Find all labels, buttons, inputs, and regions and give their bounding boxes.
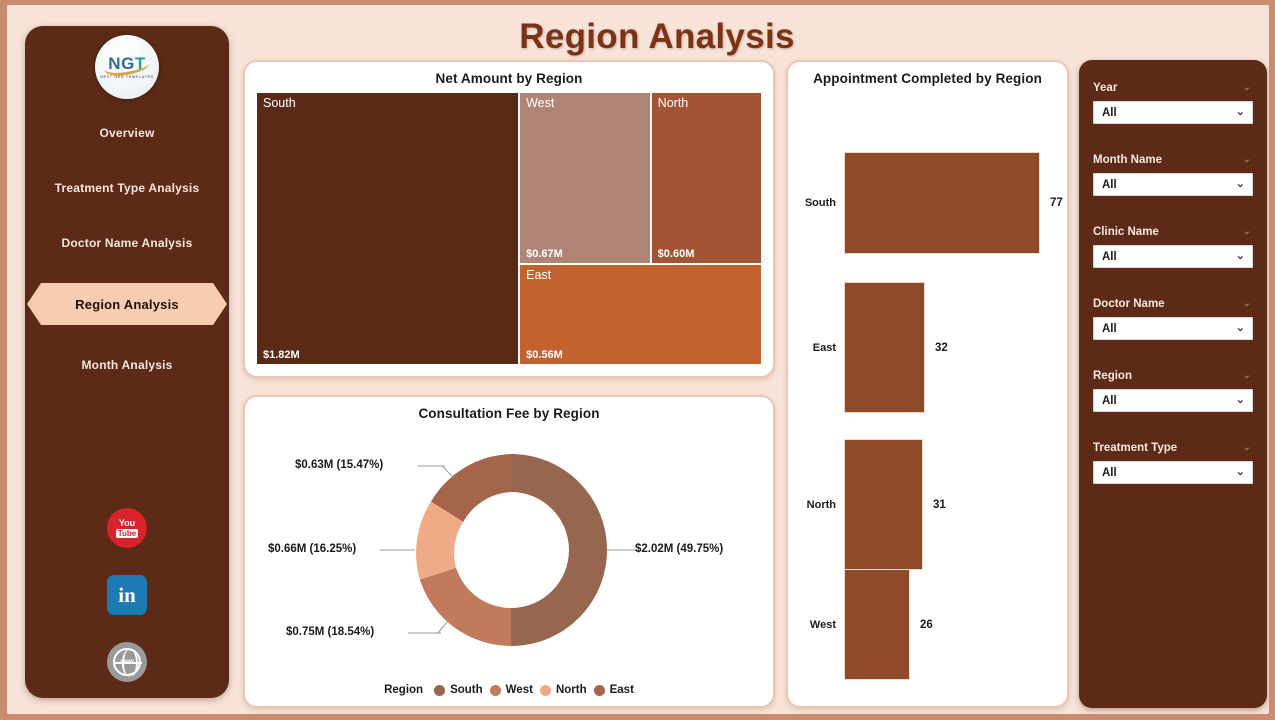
chevron-down-icon: ⌄ bbox=[1243, 155, 1251, 165]
legend-swatch-icon bbox=[540, 685, 551, 696]
consultation-fee-by-region-card: Consultation Fee by Region $2.02M (49.75… bbox=[243, 395, 775, 708]
slicer-value: All bbox=[1102, 179, 1117, 191]
slicer-label: Clinic Name bbox=[1093, 226, 1159, 238]
clinic-name-dropdown[interactable]: All ⌄ bbox=[1093, 245, 1253, 268]
donut-chart-title: Consultation Fee by Region bbox=[245, 397, 773, 421]
slicer-label: Region bbox=[1093, 370, 1132, 382]
legend-item-east[interactable]: East bbox=[594, 684, 634, 696]
slicer-treatment-type: Treatment Type ⌄ All ⌄ bbox=[1093, 442, 1253, 484]
slicer-header[interactable]: Month Name ⌄ bbox=[1093, 154, 1253, 166]
treemap-cell-label: West bbox=[526, 96, 554, 110]
slicer-label: Treatment Type bbox=[1093, 442, 1177, 454]
treemap-cell-value: $0.60M bbox=[658, 248, 695, 260]
sidebar-item-label: Overview bbox=[100, 126, 155, 140]
legend-swatch-icon bbox=[594, 685, 605, 696]
youtube-icon[interactable]: You Tube bbox=[107, 508, 147, 548]
bar-row: West 26 bbox=[788, 569, 1067, 680]
sidebar-nav: Overview Treatment Type Analysis Doctor … bbox=[25, 118, 229, 405]
slicer-value: All bbox=[1102, 467, 1117, 479]
treemap-cell-value: $1.82M bbox=[263, 349, 300, 361]
donut-chart-plot: $2.02M (49.75%) $0.75M (18.54%) $0.66M (… bbox=[245, 425, 773, 675]
website-globe-icon[interactable]: www bbox=[107, 642, 147, 682]
donut-label-east: $0.63M (15.47%) bbox=[295, 459, 383, 471]
page-title: Region Analysis bbox=[247, 14, 1067, 60]
sidebar-item-month-analysis[interactable]: Month Analysis bbox=[25, 350, 229, 380]
net-amount-by-region-card: Net Amount by Region South $1.82M West $… bbox=[243, 60, 775, 378]
logo-subtitle: NEXT GEN TEMPLATES bbox=[100, 75, 153, 79]
sidebar-item-label: Treatment Type Analysis bbox=[55, 181, 200, 195]
donut-label-north: $0.66M (16.25%) bbox=[268, 543, 356, 555]
treemap-cell-label: North bbox=[658, 96, 689, 110]
treemap-cell-south[interactable]: South $1.82M bbox=[256, 92, 519, 365]
slicer-label: Month Name bbox=[1093, 154, 1162, 166]
donut-leader-west bbox=[438, 621, 448, 633]
website-www-text: www bbox=[120, 659, 133, 665]
sidebar-item-label: Month Analysis bbox=[81, 358, 172, 372]
chevron-down-icon: ⌄ bbox=[1236, 251, 1245, 262]
linkedin-icon[interactable]: in bbox=[107, 575, 147, 615]
treemap-plot: South $1.82M West $0.67M North $0.60M Ea… bbox=[256, 92, 762, 365]
chevron-down-icon: ⌄ bbox=[1243, 227, 1251, 237]
chevron-down-icon: ⌄ bbox=[1236, 107, 1245, 118]
youtube-you-text: You bbox=[119, 519, 135, 528]
sidebar-item-treatment-type-analysis[interactable]: Treatment Type Analysis bbox=[25, 173, 229, 203]
bar-rect[interactable] bbox=[844, 282, 925, 413]
chevron-down-icon: ⌄ bbox=[1236, 395, 1245, 406]
slicer-value: All bbox=[1102, 323, 1117, 335]
bar-category-label: South bbox=[788, 197, 844, 209]
legend-swatch-icon bbox=[434, 685, 445, 696]
brand-logo: NGT NEXT GEN TEMPLATES bbox=[95, 35, 159, 99]
donut-slice-west[interactable] bbox=[420, 568, 511, 646]
chevron-down-icon: ⌄ bbox=[1236, 179, 1245, 190]
chevron-down-icon: ⌄ bbox=[1236, 323, 1245, 334]
donut-leader-east bbox=[442, 466, 454, 478]
bar-value-label: 31 bbox=[923, 499, 946, 511]
bar-row: South 77 bbox=[788, 152, 1067, 254]
slicer-year: Year ⌄ All ⌄ bbox=[1093, 82, 1253, 124]
year-dropdown[interactable]: All ⌄ bbox=[1093, 101, 1253, 124]
bar-chart-plot: South 77 East 32 North 31 West 26 bbox=[788, 94, 1067, 694]
slicer-label: Doctor Name bbox=[1093, 298, 1165, 310]
treemap-cell-east[interactable]: East $0.56M bbox=[519, 264, 762, 365]
slicer-header[interactable]: Treatment Type ⌄ bbox=[1093, 442, 1253, 454]
bar-value-label: 26 bbox=[910, 619, 933, 631]
bar-value-label: 77 bbox=[1040, 197, 1063, 209]
linkedin-glyph: in bbox=[118, 585, 136, 606]
sidebar: NGT NEXT GEN TEMPLATES Overview Treatmen… bbox=[25, 26, 229, 698]
legend-item-south[interactable]: South bbox=[434, 684, 483, 696]
sidebar-item-doctor-name-analysis[interactable]: Doctor Name Analysis bbox=[25, 228, 229, 258]
bar-chart-title: Appointment Completed by Region bbox=[788, 62, 1067, 86]
youtube-tube-text: Tube bbox=[116, 529, 139, 538]
globe-shape: www bbox=[113, 648, 141, 676]
donut-slice-south[interactable] bbox=[511, 454, 607, 646]
bar-value-label: 32 bbox=[925, 342, 948, 354]
chevron-down-icon: ⌄ bbox=[1243, 299, 1251, 309]
legend-item-west[interactable]: West bbox=[490, 684, 533, 696]
treemap-cell-west[interactable]: West $0.67M bbox=[519, 92, 651, 264]
legend-label: North bbox=[556, 684, 587, 696]
slicer-value: All bbox=[1102, 107, 1117, 119]
slicer-header[interactable]: Year ⌄ bbox=[1093, 82, 1253, 94]
treemap-cell-value: $0.56M bbox=[526, 349, 563, 361]
slicer-clinic-name: Clinic Name ⌄ All ⌄ bbox=[1093, 226, 1253, 268]
bar-category-label: North bbox=[788, 499, 844, 511]
bar-row: North 31 bbox=[788, 439, 1067, 570]
legend-label: South bbox=[450, 684, 483, 696]
slicer-header[interactable]: Clinic Name ⌄ bbox=[1093, 226, 1253, 238]
legend-label: East bbox=[610, 684, 634, 696]
legend-title: Region bbox=[384, 684, 423, 696]
sidebar-item-label: Doctor Name Analysis bbox=[62, 236, 193, 250]
month-name-dropdown[interactable]: All ⌄ bbox=[1093, 173, 1253, 196]
treemap-title: Net Amount by Region bbox=[245, 62, 773, 86]
treemap-cell-north[interactable]: North $0.60M bbox=[651, 92, 762, 264]
treemap-cell-label: East bbox=[526, 268, 551, 282]
legend-item-north[interactable]: North bbox=[540, 684, 587, 696]
filter-panel: Year ⌄ All ⌄ Month Name ⌄ All ⌄ Clinic N… bbox=[1079, 60, 1267, 708]
bar-category-label: East bbox=[788, 342, 844, 354]
bar-row: East 32 bbox=[788, 282, 1067, 413]
report-canvas: NGT NEXT GEN TEMPLATES Overview Treatmen… bbox=[7, 5, 1269, 714]
treatment-type-dropdown[interactable]: All ⌄ bbox=[1093, 461, 1253, 484]
treemap-cell-value: $0.67M bbox=[526, 248, 563, 260]
slicer-header[interactable]: Doctor Name ⌄ bbox=[1093, 298, 1253, 310]
bar-category-label: West bbox=[788, 619, 844, 631]
donut-label-south: $2.02M (49.75%) bbox=[635, 543, 723, 555]
social-links: You Tube in www bbox=[107, 508, 147, 709]
slicer-header[interactable]: Region ⌄ bbox=[1093, 370, 1253, 382]
slicer-doctor-name: Doctor Name ⌄ All ⌄ bbox=[1093, 298, 1253, 340]
donut-label-west: $0.75M (18.54%) bbox=[286, 626, 374, 638]
sidebar-item-label: Region Analysis bbox=[75, 297, 179, 312]
sidebar-item-overview[interactable]: Overview bbox=[25, 118, 229, 148]
doctor-name-dropdown[interactable]: All ⌄ bbox=[1093, 317, 1253, 340]
appointment-completed-by-region-card: Appointment Completed by Region South 77… bbox=[786, 60, 1069, 708]
chevron-down-icon: ⌄ bbox=[1243, 443, 1251, 453]
sidebar-item-region-analysis[interactable]: Region Analysis bbox=[27, 283, 227, 325]
bar-rect[interactable] bbox=[844, 152, 1040, 254]
slicer-value: All bbox=[1102, 251, 1117, 263]
chevron-down-icon: ⌄ bbox=[1243, 83, 1251, 93]
slicer-region: Region ⌄ All ⌄ bbox=[1093, 370, 1253, 412]
chevron-down-icon: ⌄ bbox=[1243, 371, 1251, 381]
slicer-month-name: Month Name ⌄ All ⌄ bbox=[1093, 154, 1253, 196]
bar-rect[interactable] bbox=[844, 569, 910, 680]
bar-rect[interactable] bbox=[844, 439, 923, 570]
legend-swatch-icon bbox=[490, 685, 501, 696]
slicer-value: All bbox=[1102, 395, 1117, 407]
treemap-cell-label: South bbox=[263, 96, 296, 110]
legend-label: West bbox=[506, 684, 533, 696]
chevron-down-icon: ⌄ bbox=[1236, 467, 1245, 478]
region-dropdown[interactable]: All ⌄ bbox=[1093, 389, 1253, 412]
slicer-label: Year bbox=[1093, 82, 1117, 94]
dashboard-page: NGT NEXT GEN TEMPLATES Overview Treatmen… bbox=[0, 0, 1275, 720]
donut-legend: Region South West North East bbox=[245, 684, 773, 696]
